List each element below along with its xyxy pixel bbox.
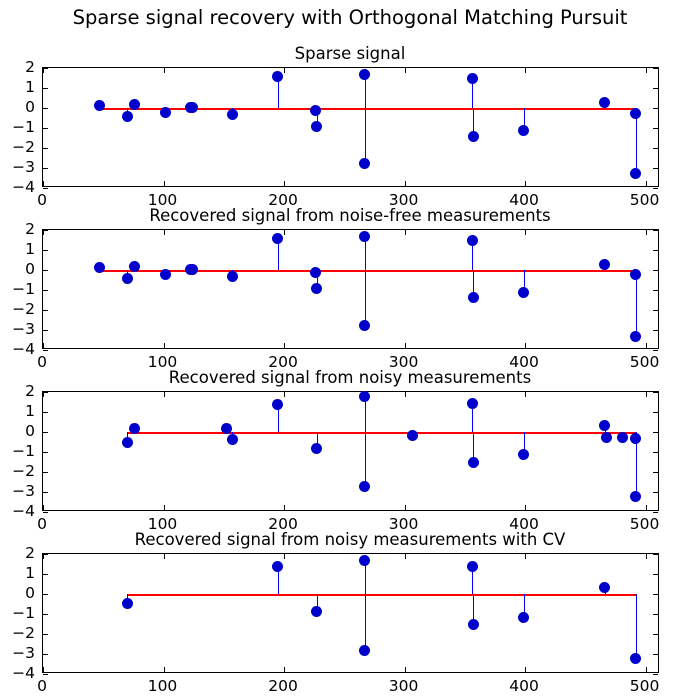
data-point-marker [468,457,479,468]
x-tick-top-0-2 [284,68,285,73]
y-tick-label-1-5: −3 [2,320,35,338]
panel-title-0: Sparse signal [0,44,700,63]
x-tick-top-0-3 [405,68,406,73]
data-point-marker [467,235,478,246]
y-tick-label-1-1: 1 [2,240,35,258]
data-point-marker [160,269,171,280]
x-tick-0-5 [646,181,647,186]
data-point-marker [311,443,322,454]
data-point-marker [630,168,641,179]
x-tick-label-3-3: 300 [389,677,419,695]
y-tick-right-2-3 [653,452,658,453]
y-tick-right-1-5 [653,330,658,331]
x-tick-0-0 [43,181,44,186]
data-point-marker [227,434,238,445]
figure-canvas: Sparse signal recovery with Orthogonal M… [0,0,700,700]
y-tick-3-6 [43,674,48,675]
y-tick-right-1-4 [653,310,658,311]
y-tick-0-3 [43,128,48,129]
y-tick-right-2-0 [653,392,658,393]
data-point-marker [311,283,322,294]
data-point-marker [359,320,370,331]
x-tick-2-5 [646,505,647,510]
y-tick-label-3-5: −3 [2,644,35,662]
y-tick-right-0-5 [653,168,658,169]
y-tick-label-2-2: 0 [2,422,35,440]
y-tick-right-0-1 [653,88,658,89]
data-point-marker [227,109,238,120]
data-point-marker [518,449,529,460]
y-tick-right-3-5 [653,654,658,655]
x-tick-top-2-3 [405,392,406,397]
data-point-marker [310,267,321,278]
data-point-marker [601,432,612,443]
y-tick-right-0-6 [653,188,658,189]
y-tick-right-3-3 [653,614,658,615]
y-tick-right-2-1 [653,412,658,413]
y-tick-right-2-6 [653,512,658,513]
x-tick-2-2 [284,505,285,510]
data-point-marker [272,399,283,410]
y-tick-2-5 [43,492,48,493]
x-tick-0-4 [525,181,526,186]
y-tick-right-3-2 [653,594,658,595]
x-tick-top-1-2 [284,230,285,235]
y-tick-2-4 [43,472,48,473]
plot-axes-3 [42,553,659,673]
data-point-marker [359,645,370,656]
data-point-marker [187,102,198,113]
x-tick-top-1-4 [525,230,526,235]
data-point-marker [518,612,529,623]
y-tick-3-2 [43,594,48,595]
data-point-marker [359,231,370,242]
y-tick-label-2-1: 1 [2,402,35,420]
y-tick-right-0-4 [653,148,658,149]
x-tick-top-2-1 [164,392,165,397]
data-point-marker [617,432,628,443]
data-point-marker [599,582,610,593]
y-tick-label-2-5: −3 [2,482,35,500]
y-tick-right-1-0 [653,230,658,231]
data-point-marker [630,653,641,664]
data-point-marker [468,292,479,303]
y-tick-label-0-2: 0 [2,98,35,116]
y-tick-3-5 [43,654,48,655]
y-tick-0-5 [43,168,48,169]
x-tick-0-1 [164,181,165,186]
x-tick-1-1 [164,343,165,348]
plot-axes-1 [42,229,659,349]
data-point-marker [467,398,478,409]
figure-title: Sparse signal recovery with Orthogonal M… [0,6,700,29]
y-tick-label-1-2: 0 [2,260,35,278]
y-tick-1-2 [43,270,48,271]
data-point-marker [467,561,478,572]
x-tick-top-3-5 [646,554,647,559]
x-tick-top-0-5 [646,68,647,73]
x-tick-top-1-1 [164,230,165,235]
y-tick-right-0-0 [653,68,658,69]
data-point-marker [310,105,321,116]
y-tick-3-4 [43,634,48,635]
data-point-marker [359,391,370,402]
y-tick-label-2-0: 2 [2,382,35,400]
data-point-marker [359,69,370,80]
data-point-marker [187,264,198,275]
y-tick-right-3-0 [653,554,658,555]
x-tick-top-3-3 [405,554,406,559]
x-tick-3-4 [525,667,526,672]
y-tick-right-3-6 [653,674,658,675]
x-tick-label-3-2: 200 [268,677,298,695]
data-point-marker [272,561,283,572]
y-tick-2-2 [43,432,48,433]
stem-line [636,594,637,658]
y-tick-1-6 [43,350,48,351]
data-point-marker [272,233,283,244]
y-tick-label-1-3: −1 [2,280,35,298]
data-point-marker [630,108,641,119]
x-tick-top-2-4 [525,392,526,397]
y-tick-3-3 [43,614,48,615]
y-tick-label-1-6: −4 [2,340,35,358]
y-tick-right-1-6 [653,350,658,351]
x-tick-3-1 [164,667,165,672]
y-tick-right-1-2 [653,270,658,271]
y-tick-3-1 [43,574,48,575]
zero-baseline-0 [100,108,636,110]
x-tick-top-0-4 [525,68,526,73]
x-tick-top-2-5 [646,392,647,397]
y-tick-1-5 [43,330,48,331]
data-point-marker [599,97,610,108]
y-tick-label-3-6: −4 [2,664,35,682]
plot-area-3 [43,554,658,672]
x-tick-2-0 [43,505,44,510]
panel-title-2: Recovered signal from noisy measurements [0,368,700,387]
panel-title-1: Recovered signal from noise-free measure… [0,206,700,225]
x-tick-top-0-0 [43,68,44,73]
x-tick-label-3-4: 400 [509,677,539,695]
y-tick-1-4 [43,310,48,311]
y-tick-0-1 [43,88,48,89]
x-tick-top-3-2 [284,554,285,559]
y-tick-label-3-3: −1 [2,604,35,622]
y-tick-right-2-4 [653,472,658,473]
y-tick-right-3-1 [653,574,658,575]
data-point-marker [272,71,283,82]
data-point-marker [227,271,238,282]
plot-area-2 [43,392,658,510]
x-tick-top-3-4 [525,554,526,559]
y-tick-label-0-4: −2 [2,138,35,156]
zero-baseline-3 [127,594,636,596]
y-tick-label-0-6: −4 [2,178,35,196]
data-point-marker [518,125,529,136]
x-tick-top-1-5 [646,230,647,235]
data-point-marker [122,111,133,122]
data-point-marker [160,107,171,118]
data-point-marker [311,606,322,617]
plot-axes-2 [42,391,659,511]
y-tick-label-3-1: 1 [2,564,35,582]
y-tick-label-0-5: −3 [2,158,35,176]
y-tick-2-1 [43,412,48,413]
stem-line [365,397,366,432]
data-point-marker [467,73,478,84]
data-point-marker [518,287,529,298]
y-tick-right-0-3 [653,128,658,129]
x-tick-0-3 [405,181,406,186]
x-tick-3-0 [43,667,44,672]
y-tick-label-0-3: −1 [2,118,35,136]
x-tick-0-2 [284,181,285,186]
plot-axes-0 [42,67,659,187]
x-tick-1-4 [525,343,526,348]
y-tick-label-3-0: 2 [2,544,35,562]
x-tick-3-3 [405,667,406,672]
x-tick-1-2 [284,343,285,348]
y-tick-2-6 [43,512,48,513]
data-point-marker [630,491,641,502]
data-point-marker [599,420,610,431]
y-tick-label-0-0: 2 [2,58,35,76]
zero-baseline-2 [127,432,636,434]
data-point-marker [221,423,232,434]
y-tick-label-2-6: −4 [2,502,35,520]
y-tick-1-3 [43,290,48,291]
x-tick-top-3-0 [43,554,44,559]
data-point-marker [599,259,610,270]
data-point-marker [630,433,641,444]
x-tick-2-3 [405,505,406,510]
y-tick-label-3-4: −2 [2,624,35,642]
y-tick-right-2-2 [653,432,658,433]
y-tick-label-2-4: −2 [2,462,35,480]
y-tick-right-1-3 [653,290,658,291]
data-point-marker [359,555,370,566]
y-tick-label-0-1: 1 [2,78,35,96]
y-tick-right-1-1 [653,250,658,251]
x-tick-top-2-0 [43,392,44,397]
x-tick-top-1-0 [43,230,44,235]
x-tick-3-2 [284,667,285,672]
x-tick-1-3 [405,343,406,348]
y-tick-label-1-0: 2 [2,220,35,238]
stem-line [365,594,366,651]
data-point-marker [311,121,322,132]
stem-line [365,108,366,163]
stem-line [365,270,366,326]
x-tick-1-0 [43,343,44,348]
x-tick-3-5 [646,667,647,672]
zero-baseline-1 [100,270,636,272]
x-tick-top-0-1 [164,68,165,73]
data-point-marker [468,619,479,630]
data-point-marker [630,269,641,280]
y-tick-right-0-2 [653,108,658,109]
x-tick-label-3-5: 500 [630,677,660,695]
data-point-marker [359,481,370,492]
data-point-marker [122,437,133,448]
y-tick-label-3-2: 0 [2,584,35,602]
x-tick-top-1-3 [405,230,406,235]
data-point-marker [468,131,479,142]
y-tick-label-1-4: −2 [2,300,35,318]
y-tick-0-2 [43,108,48,109]
x-tick-top-2-2 [284,392,285,397]
data-point-marker [630,331,641,342]
y-tick-label-2-3: −1 [2,442,35,460]
x-tick-2-1 [164,505,165,510]
y-tick-2-3 [43,452,48,453]
x-tick-label-3-1: 100 [148,677,178,695]
data-point-marker [407,430,418,441]
y-tick-right-3-4 [653,634,658,635]
data-point-marker [122,273,133,284]
data-point-marker [122,598,133,609]
y-tick-right-2-5 [653,492,658,493]
data-point-marker [359,158,370,169]
panel-title-3: Recovered signal from noisy measurements… [0,530,700,549]
plot-area-0 [43,68,658,186]
plot-area-1 [43,230,658,348]
y-tick-0-4 [43,148,48,149]
y-tick-1-1 [43,250,48,251]
x-tick-label-3-0: 0 [37,677,47,695]
stem-line [365,432,366,487]
x-tick-2-4 [525,505,526,510]
x-tick-top-3-1 [164,554,165,559]
x-tick-1-5 [646,343,647,348]
y-tick-0-6 [43,188,48,189]
